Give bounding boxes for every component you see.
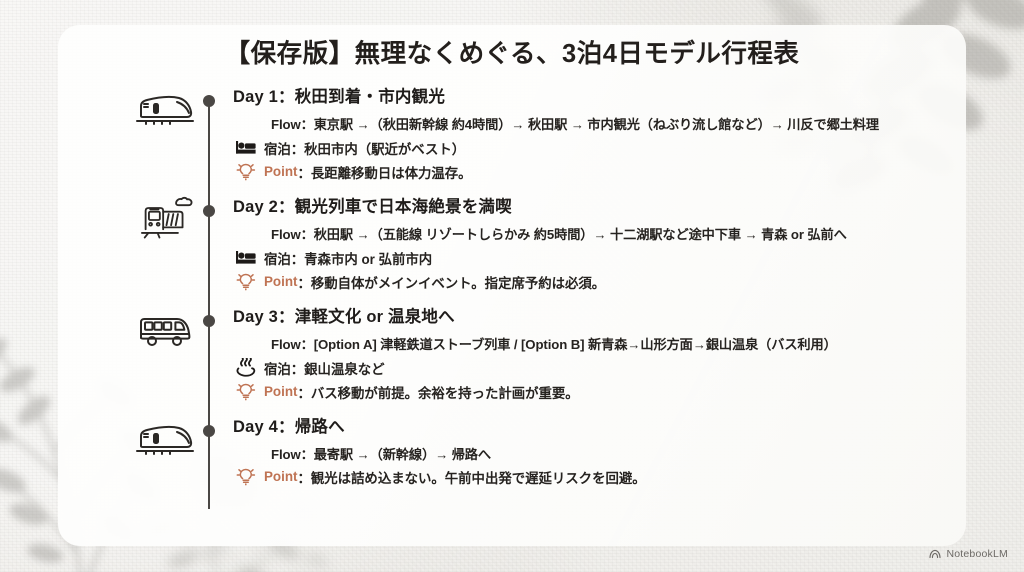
watermark-label: NotebookLM bbox=[946, 548, 1008, 560]
watermark: NotebookLM bbox=[929, 548, 1008, 560]
day-title: Day 1：秋田到着・市内観光 bbox=[233, 88, 935, 107]
day-point: Point：バス移動が前提。余裕を持った計画が重要。 bbox=[233, 382, 935, 402]
day-title: Day 4：帰路へ bbox=[233, 418, 935, 437]
day-stay-text: 宿泊：銀山温泉など bbox=[264, 358, 385, 378]
timeline-day-3: Day 3：津軽文化 or 温泉地へ Flow：[Option A] 津軽鉄道ス… bbox=[145, 308, 935, 418]
day-point-label: Point bbox=[264, 384, 297, 399]
day-stay-text: 宿泊：秋田市内（駅近がベスト） bbox=[264, 138, 465, 158]
bed-icon bbox=[233, 248, 259, 268]
shinkansen-icon bbox=[133, 416, 197, 464]
day-stay-text: 宿泊：青森市内 or 弘前市内 bbox=[264, 248, 432, 268]
day-title: Day 2：観光列車で日本海絶景を満喫 bbox=[233, 198, 935, 217]
day-point: Point：長距離移動日は体力温存。 bbox=[233, 162, 935, 182]
day-point-label: Point bbox=[264, 274, 297, 289]
day-flow: Flow：[Option A] 津軽鉄道ストーブ列車 / [Option B] … bbox=[271, 334, 935, 353]
day-point-text: ：観光は詰め込まない。午前中出発で遅延リスクを回避。 bbox=[297, 467, 645, 487]
lightbulb-icon bbox=[233, 382, 259, 402]
lightbulb-icon bbox=[233, 272, 259, 292]
day-title: Day 3：津軽文化 or 温泉地へ bbox=[233, 308, 935, 327]
bus-icon bbox=[133, 306, 197, 354]
timeline-dot bbox=[203, 315, 215, 327]
day-point-label: Point bbox=[264, 469, 297, 484]
day-flow: Flow：秋田駅 →（五能線 リゾートしらかみ 約5時間）→ 十二湖駅など途中下… bbox=[271, 224, 935, 243]
itinerary-timeline: Day 1：秋田到着・市内観光 Flow：東京駅 →（秋田新幹線 約4時間）→ … bbox=[145, 88, 935, 533]
timeline-dot bbox=[203, 205, 215, 217]
day-point-label: Point bbox=[264, 164, 297, 179]
onsen-icon bbox=[233, 358, 259, 378]
notebooklm-logo-icon bbox=[929, 548, 941, 560]
day-flow: Flow：最寄駅 →（新幹線）→ 帰路へ bbox=[271, 444, 935, 463]
day-point: Point：移動自体がメインイベント。指定席予約は必須。 bbox=[233, 272, 935, 292]
day-point: Point：観光は詰め込まない。午前中出発で遅延リスクを回避。 bbox=[233, 467, 935, 487]
day-point-text: ：長距離移動日は体力温存。 bbox=[297, 162, 471, 182]
lightbulb-icon bbox=[233, 162, 259, 182]
day-point-text: ：移動自体がメインイベント。指定席予約は必須。 bbox=[297, 272, 605, 292]
timeline-dot bbox=[203, 95, 215, 107]
page-title: 【保存版】無理なくめぐる、3泊4日モデル行程表 bbox=[0, 33, 1024, 70]
day-stay: 宿泊：青森市内 or 弘前市内 bbox=[233, 248, 935, 268]
local-train-cloud-icon bbox=[133, 196, 197, 244]
timeline-day-1: Day 1：秋田到着・市内観光 Flow：東京駅 →（秋田新幹線 約4時間）→ … bbox=[145, 88, 935, 198]
shinkansen-icon bbox=[133, 86, 197, 134]
day-point-text: ：バス移動が前提。余裕を持った計画が重要。 bbox=[297, 382, 578, 402]
lightbulb-icon bbox=[233, 467, 259, 487]
day-stay: 宿泊：秋田市内（駅近がベスト） bbox=[233, 138, 935, 158]
timeline-dot bbox=[203, 425, 215, 437]
bed-icon bbox=[233, 138, 259, 158]
timeline-day-2: Day 2：観光列車で日本海絶景を満喫 Flow：秋田駅 →（五能線 リゾートし… bbox=[145, 198, 935, 308]
day-flow: Flow：東京駅 →（秋田新幹線 約4時間）→ 秋田駅 → 市内観光（ねぶり流し… bbox=[271, 114, 935, 133]
timeline-day-4: Day 4：帰路へ Flow：最寄駅 →（新幹線）→ 帰路へ Point：観光は… bbox=[145, 418, 935, 514]
day-stay: 宿泊：銀山温泉など bbox=[233, 358, 935, 378]
